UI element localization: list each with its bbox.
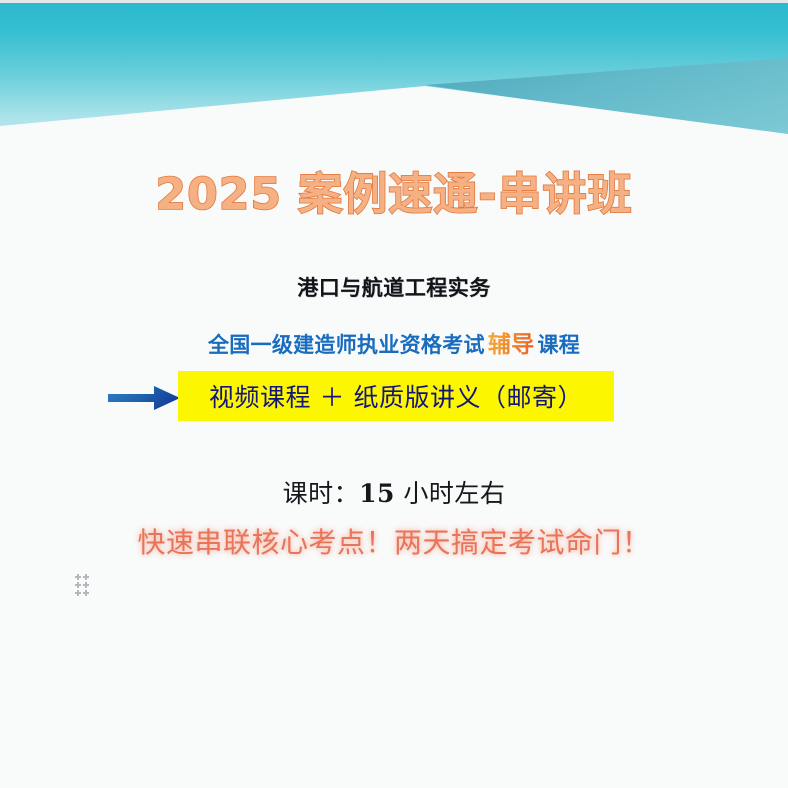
grip-dot (83, 582, 89, 588)
grip-dot (75, 590, 81, 596)
hours-value: 15 (359, 479, 395, 508)
header-banner (0, 0, 788, 140)
slide-canvas: 2025 案例速通-串讲班 港口与航道工程实务 全国一级建造师执业资格考试辅导课… (0, 0, 788, 788)
hours-unit: 小时左右 (403, 479, 505, 508)
exam-line-emphasis: 辅导 (485, 332, 538, 358)
drag-handle-icon[interactable] (75, 574, 91, 596)
grip-dot (83, 590, 89, 596)
right-arrow-icon (108, 385, 180, 411)
grip-dot (75, 574, 81, 580)
course-hours-line: 课时：15 小时左右 (0, 474, 788, 510)
exam-line-prefix: 全国一级建造师执业资格考试 (208, 333, 485, 357)
delivery-row: 视频课程 ＋ 纸质版讲义（邮寄） (0, 371, 788, 427)
delivery-text: 视频课程 ＋ 纸质版讲义（邮寄） (209, 378, 583, 414)
hours-label: 课时： (283, 479, 360, 508)
delivery-highlight: 视频课程 ＋ 纸质版讲义（邮寄） (178, 371, 614, 421)
grip-dot (75, 582, 81, 588)
exam-course-line: 全国一级建造师执业资格考试辅导课程 (0, 325, 788, 359)
slogan-text: 快速串联核心考点！两天搞定考试命门！ (0, 521, 788, 561)
exam-line-suffix: 课程 (537, 333, 580, 357)
page-title: 2025 案例速通-串讲班 (0, 158, 788, 222)
grip-dot (83, 574, 89, 580)
subject-heading: 港口与航道工程实务 (0, 272, 788, 302)
